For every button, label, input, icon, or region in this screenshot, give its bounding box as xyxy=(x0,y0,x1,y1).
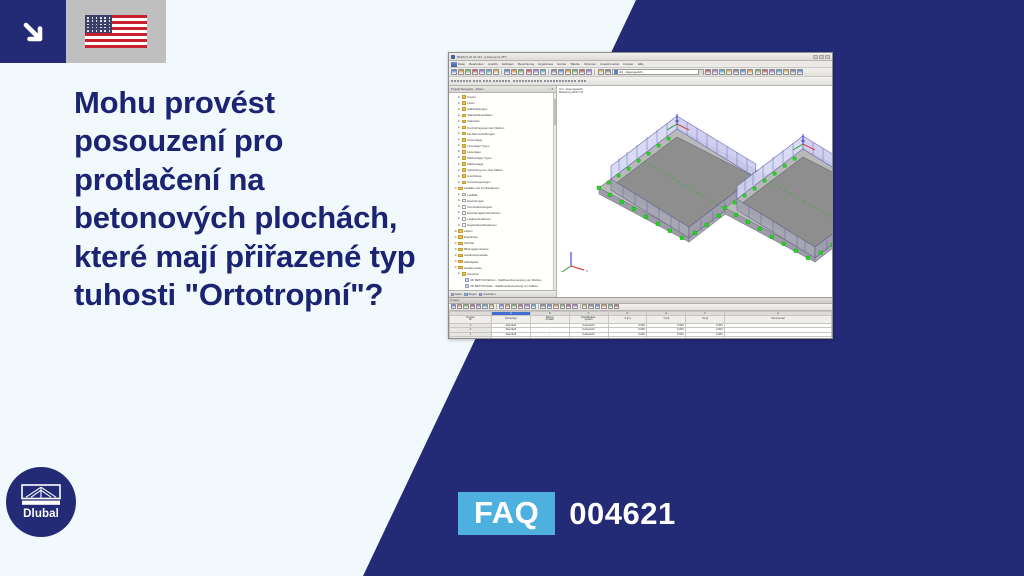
load-case-icon xyxy=(614,70,618,74)
navigator-tree-item-label: Stabsätze xyxy=(467,119,479,123)
folder-icon xyxy=(462,95,467,99)
toolbar-button-right-12[interactable] xyxy=(790,69,796,75)
navigator-tree-item-label: Linienlager xyxy=(467,150,481,154)
expand-toggle-icon[interactable]: ⊞ xyxy=(457,211,460,214)
menu-item-fenster[interactable]: Fenster xyxy=(623,62,633,66)
toolbar-button-1[interactable] xyxy=(457,304,462,309)
module-icon xyxy=(465,284,470,288)
expand-toggle-icon[interactable]: ⊞ xyxy=(454,236,457,239)
toolbar-button-32[interactable] xyxy=(544,80,546,82)
toolbar-button-2[interactable] xyxy=(457,80,459,82)
navigator-title: Projekt-Navigator - Daten xyxy=(451,87,484,91)
document-icon xyxy=(462,217,467,221)
navigator-tab-label: Ansichten xyxy=(483,292,495,296)
folder-icon xyxy=(462,120,467,124)
table-header-cell: Z [m] xyxy=(686,316,725,324)
load-case-value: LF1 - Eigengewicht xyxy=(619,70,643,74)
expand-toggle-icon[interactable]: ⊞ xyxy=(454,230,457,233)
folder-icon xyxy=(458,235,463,239)
menu-item-bearbeiten[interactable]: Bearbeiten xyxy=(469,62,484,66)
page-title: Mohu provést posouzení pro protlačení na… xyxy=(74,84,424,315)
expand-toggle-icon[interactable]: ⊞ xyxy=(457,181,460,184)
toolbar-separator xyxy=(548,69,549,75)
svg-text:X: X xyxy=(586,269,588,273)
navigator-tab-label: Zeigen xyxy=(468,292,477,296)
table-panel[interactable]: Knoten ABCDEFGKnotenNr.KnotentypBezugKno… xyxy=(449,297,832,339)
document-icon xyxy=(462,199,467,203)
coordinate-axes-icon: X xyxy=(562,252,588,273)
expand-toggle-icon[interactable]: ⊞ xyxy=(454,242,457,245)
toolbar-button-0[interactable] xyxy=(451,304,456,309)
toolbar-button-26[interactable] xyxy=(608,304,613,309)
faq-block: FAQ 004621 xyxy=(458,492,676,535)
document-icon xyxy=(462,211,467,215)
navigator-tree-item-label: Einwirkungskombinationen xyxy=(467,211,500,215)
navigator-tree-item-label: Lastfälle und Kombinationen xyxy=(464,186,499,190)
table-cell-z[interactable]: 0.000 xyxy=(686,337,725,339)
expand-toggle-icon[interactable]: ⊞ xyxy=(457,175,460,178)
folder-icon xyxy=(462,272,467,276)
toolbar-button-27[interactable] xyxy=(614,304,619,309)
navigator-tree-item-label: Flächenlager xyxy=(467,162,483,166)
table-header-cell: Knotentyp xyxy=(492,316,531,324)
menu-item-optionen[interactable]: Optionen xyxy=(584,62,596,66)
menu-item-tabelle[interactable]: Tabelle xyxy=(570,62,580,66)
folder-icon xyxy=(462,132,467,136)
toolbar-button-13[interactable] xyxy=(531,304,536,309)
toolbar-button-25[interactable] xyxy=(601,304,606,309)
expand-toggle-icon[interactable]: ⊞ xyxy=(454,248,457,251)
table-header-comment: Kommentar xyxy=(725,316,832,324)
expand-toggle-icon[interactable]: ⊞ xyxy=(457,163,460,166)
toolbar-button-8[interactable] xyxy=(504,69,510,75)
navigator-tabs[interactable]: DatenZeigenAnsichten xyxy=(449,290,556,297)
rfem-application-window[interactable]: RFEM 5.22.02.x64 - [Unbenannt.rf5*] Date… xyxy=(448,52,833,339)
toolbar-button-17[interactable] xyxy=(499,80,501,82)
expand-toggle-icon[interactable]: ⊞ xyxy=(457,169,460,172)
navigator-tree-item-label: Bildungsgrenzwerte xyxy=(464,247,489,251)
menu-item-zusatzmodule[interactable]: Zusatzmodule xyxy=(600,62,619,66)
navigator-tree-item-label: Durchdringungen der Flächen xyxy=(467,126,504,130)
folder-icon xyxy=(458,260,463,264)
folder-icon xyxy=(462,150,467,154)
menu-item-datei[interactable]: Datei xyxy=(458,62,465,66)
toolbar-button-13[interactable] xyxy=(489,80,491,82)
toolbar-button-right-7[interactable] xyxy=(755,69,761,75)
toolbar-button-right-3[interactable] xyxy=(726,69,732,75)
expand-toggle-icon[interactable]: ⊞ xyxy=(457,138,460,141)
data-tab-icon xyxy=(451,293,454,296)
toolbar-button-23[interactable] xyxy=(516,80,518,82)
folder-icon xyxy=(462,126,467,130)
expand-toggle-icon[interactable]: ⊞ xyxy=(457,205,460,208)
model-viewport[interactable]: LF1 - Eigengewicht Belastung [kN/m^2] xyxy=(557,86,832,297)
rfem-app-icon xyxy=(451,55,455,59)
toolbar-button-2[interactable] xyxy=(463,304,468,309)
toolbar-button-12[interactable] xyxy=(533,69,539,75)
toolbar-button-3[interactable] xyxy=(472,69,478,75)
menu-item-hilfe[interactable]: Hilfe xyxy=(638,62,644,66)
toolbar-button-22[interactable] xyxy=(513,80,515,82)
toolbar-button-8[interactable] xyxy=(473,80,475,82)
toolbar-button-4[interactable] xyxy=(479,69,485,75)
table-cell-y[interactable]: 6.000 xyxy=(647,337,686,339)
menu-item-ergebnisse[interactable]: Ergebnisse xyxy=(538,62,553,66)
toolbar-separator xyxy=(496,304,497,309)
expand-toggle-icon[interactable]: ⊞ xyxy=(457,156,460,159)
table-header-cell: BezugKnoten xyxy=(530,316,569,324)
folder-icon xyxy=(458,242,463,246)
toolbar-button-right-10[interactable] xyxy=(776,69,782,75)
toolbar-button-1[interactable] xyxy=(458,69,464,75)
toolbar-button-9[interactable] xyxy=(505,304,510,309)
navigator-header: Projekt-Navigator - Daten ▫ ✕ xyxy=(449,86,556,93)
expand-toggle-icon[interactable]: ⊞ xyxy=(457,144,460,147)
toolbar-button-16[interactable] xyxy=(496,80,498,82)
navigator-tab-zeigen[interactable]: Zeigen xyxy=(464,292,477,296)
flag-badge xyxy=(66,0,166,63)
navigator-tree-item-label: Verbindung von zwei Stäben xyxy=(467,168,502,172)
expand-toggle-icon[interactable]: ⊞ xyxy=(457,224,460,227)
toolbar-button-17[interactable] xyxy=(553,304,558,309)
toolbar-button-33[interactable] xyxy=(547,80,549,82)
folder-icon xyxy=(462,107,467,111)
minimize-button[interactable] xyxy=(813,55,818,59)
navigator-tree-item-label: Favoriten xyxy=(467,272,479,276)
toolbar-button-12[interactable] xyxy=(486,80,488,82)
document-icon xyxy=(462,193,467,197)
navigator-close-icon[interactable]: ▫ ✕ xyxy=(548,87,554,91)
toolbar-button-30[interactable] xyxy=(537,80,539,82)
toolbar-button-4[interactable] xyxy=(463,80,465,82)
toolbar-button-right-9[interactable] xyxy=(769,69,775,75)
expand-toggle-icon[interactable]: ⊞ xyxy=(457,272,460,275)
close-button[interactable] xyxy=(825,55,830,59)
toolbar-button-24[interactable] xyxy=(519,80,521,82)
toolbar-button-11[interactable] xyxy=(518,304,523,309)
table-cell-x[interactable]: 0.000 xyxy=(608,337,647,339)
table-toolbar[interactable] xyxy=(449,304,832,312)
expand-toggle-icon[interactable]: ⊞ xyxy=(457,108,460,111)
toolbar-button-15[interactable] xyxy=(493,80,495,82)
folder-icon xyxy=(462,168,467,172)
toolbar-button-5[interactable] xyxy=(486,69,492,75)
toolbar-button-24[interactable] xyxy=(595,304,600,309)
navigator-tree-item-label: Zusatzmodule xyxy=(464,266,482,270)
navigator-tree-item-label: Lastfälle xyxy=(467,193,477,197)
navigator-tree-item-label: Linien xyxy=(467,101,474,105)
document-icon xyxy=(462,223,467,227)
navigator-tree-item-label: Stablolastungen xyxy=(467,107,487,111)
arrow-down-right-icon xyxy=(19,18,47,46)
toolbar-button-4[interactable] xyxy=(476,304,481,309)
toolbar-button-23[interactable] xyxy=(588,304,593,309)
table-cell-coord-system[interactable]: Kartesisch xyxy=(569,337,608,339)
expand-toggle-icon[interactable]: ⊞ xyxy=(457,102,460,105)
folder-icon xyxy=(462,138,467,142)
toolbar-button-12[interactable] xyxy=(524,304,529,309)
toolbar-button-16[interactable] xyxy=(547,304,552,309)
folder-icon xyxy=(462,144,467,148)
toolbar-button-45[interactable] xyxy=(584,80,586,82)
toolbar-button-41[interactable] xyxy=(571,80,573,82)
expand-toggle-icon[interactable]: ⊞ xyxy=(454,254,457,257)
expand-toggle-icon[interactable]: ⊞ xyxy=(457,126,460,129)
expand-toggle-icon[interactable]: ⊞ xyxy=(454,266,457,269)
toolbar-button-18[interactable] xyxy=(572,69,578,75)
table-cell-node-type[interactable]: Standard xyxy=(492,337,531,339)
load-case-combo[interactable]: LF1 - Eigengewicht xyxy=(612,69,704,75)
navigator-tree-item-label: Knotenkopplungen xyxy=(467,180,490,184)
expand-toggle-icon[interactable]: ⊞ xyxy=(457,193,460,196)
navigator-scrollbar[interactable] xyxy=(553,93,557,290)
toolbar-button-39[interactable] xyxy=(565,80,567,82)
toolbar-button-right-1[interactable] xyxy=(712,69,718,75)
toolbar-button-19[interactable] xyxy=(505,80,507,82)
svg-text:5/0: 5/0 xyxy=(801,139,806,143)
expand-toggle-icon[interactable]: ⊞ xyxy=(457,96,460,99)
toolbar-separator xyxy=(538,304,539,309)
navigator-tree-item-label: Ausdruckprotokolle xyxy=(464,253,488,257)
folder-icon xyxy=(458,254,463,258)
toolbar-separator xyxy=(501,69,502,75)
navigator-tree-item-label: Anschlüsse xyxy=(467,174,481,178)
toolbar-button-34[interactable] xyxy=(550,80,552,82)
views-tab-icon xyxy=(479,293,482,296)
toolbar-button-25[interactable] xyxy=(522,80,524,82)
menu-item-einfuegen[interactable]: Einfügen xyxy=(502,62,514,66)
menu-item-extras[interactable]: Extras xyxy=(558,62,567,66)
toolbar-button-10[interactable] xyxy=(511,304,516,309)
node-table[interactable]: ABCDEFGKnotenNr.KnotentypBezugKnotenKoor… xyxy=(449,311,832,339)
navigator-tree-item-label: Schnitte xyxy=(464,241,474,245)
toolbar-button-9[interactable] xyxy=(476,80,478,82)
toolbar-button-5[interactable] xyxy=(482,304,487,309)
toolbar-button-8[interactable] xyxy=(499,304,504,309)
folder-icon xyxy=(462,114,467,118)
workspace: Projekt-Navigator - Daten ▫ ✕ ⊞Knoten⊞Li… xyxy=(449,86,832,297)
toolbar-button-19[interactable] xyxy=(579,69,585,75)
maximize-button[interactable] xyxy=(819,55,824,59)
toolbar-button-right-5[interactable] xyxy=(740,69,746,75)
toolbar-button-3[interactable] xyxy=(470,304,475,309)
toolbar-button-44[interactable] xyxy=(581,80,583,82)
toolbar-button-6[interactable] xyxy=(469,80,471,82)
toolbar-button-2[interactable] xyxy=(465,69,471,75)
toolbar-button-28[interactable] xyxy=(531,80,533,82)
toolbar-button-5[interactable] xyxy=(466,80,468,82)
toolbar-button-10[interactable] xyxy=(518,69,524,75)
toolbar-button-10[interactable] xyxy=(479,80,481,82)
navigator-tree-item-label: Hilfsobjekte xyxy=(464,260,478,264)
toolbar-button-1[interactable] xyxy=(454,80,456,82)
navigator-tree-item-label: Lastkombinationen xyxy=(467,217,490,221)
expand-toggle-icon[interactable]: ⊞ xyxy=(457,114,460,117)
secondary-toolbar[interactable] xyxy=(449,77,832,86)
toolbar-button-6[interactable] xyxy=(489,304,494,309)
toolbar-button-36[interactable] xyxy=(556,80,558,82)
toolbar-button-right-13[interactable] xyxy=(797,69,803,75)
toolbar-button-0[interactable] xyxy=(451,69,457,75)
navigator-tree-item-label: RF-BETON Stäbe - Stahlbetonbemessung von… xyxy=(470,284,538,288)
toolbar-button-15[interactable] xyxy=(540,304,545,309)
toolbar-button-23[interactable] xyxy=(605,69,611,75)
toolbar-button-37[interactable] xyxy=(559,80,561,82)
navigator-tree-item-label: Linienlager Typen xyxy=(467,144,489,148)
expand-toggle-icon[interactable]: ⊞ xyxy=(454,260,457,263)
chevron-down-icon[interactable] xyxy=(698,70,703,75)
toolbar-button-right-0[interactable] xyxy=(705,69,711,75)
expand-toggle-icon[interactable]: ⊞ xyxy=(454,187,457,190)
navigator-tree-item-label: Lasten xyxy=(464,229,472,233)
expand-toggle-icon[interactable]: ⊞ xyxy=(457,132,460,135)
folder-icon xyxy=(462,181,467,185)
toolbar-button-11[interactable] xyxy=(526,69,532,75)
dlubal-logo: Dlubal xyxy=(6,467,76,537)
table-header-cell: X [m] xyxy=(608,316,647,324)
toolbar-separator xyxy=(580,304,581,309)
toolbar-button-26[interactable] xyxy=(525,80,527,82)
toolbar-button-right-11[interactable] xyxy=(783,69,789,75)
expand-toggle-icon[interactable]: ⊞ xyxy=(457,120,460,123)
menu-item-berechnung[interactable]: Berechnung xyxy=(518,62,534,66)
toolbar-button-16[interactable] xyxy=(558,69,564,75)
toolbar-button-29[interactable] xyxy=(534,80,536,82)
folder-icon xyxy=(458,229,463,233)
menu-item-ansicht[interactable]: Ansicht xyxy=(488,62,498,66)
folder-icon xyxy=(458,248,463,252)
folder-icon xyxy=(462,174,467,178)
window-title: RFEM 5.22.02.x64 - [Unbenannt.rf5*] xyxy=(457,55,507,59)
toolbar-button-right-6[interactable] xyxy=(747,69,753,75)
toolbar-button-42[interactable] xyxy=(574,80,576,82)
toolbar-button-right-4[interactable] xyxy=(733,69,739,75)
toolbar-button-18[interactable] xyxy=(502,80,504,82)
toolbar-button-17[interactable] xyxy=(565,69,571,75)
main-toolbar[interactable]: LF1 - Eigengewicht xyxy=(449,68,832,77)
navigator-tab-label: Daten xyxy=(455,292,462,296)
toolbar-button-6[interactable] xyxy=(493,69,499,75)
toolbar-button-13[interactable] xyxy=(540,69,546,75)
project-navigator[interactable]: Projekt-Navigator - Daten ▫ ✕ ⊞Knoten⊞Li… xyxy=(449,86,557,297)
toolbar-button-15[interactable] xyxy=(551,69,557,75)
toolbar-button-31[interactable] xyxy=(540,80,542,82)
toolbar-button-right-8[interactable] xyxy=(762,69,768,75)
toolbar-button-9[interactable] xyxy=(511,69,517,75)
toolbar-button-3[interactable] xyxy=(460,80,462,82)
truss-frame-icon xyxy=(21,484,61,506)
module-icon xyxy=(465,278,470,282)
table-header-cell: Koordinaten-system xyxy=(569,316,608,324)
dlubal-wordmark: Dlubal xyxy=(23,508,59,520)
toolbar-button-22[interactable] xyxy=(598,69,604,75)
navigator-tree-item-label: FE-Netzverdichtungen xyxy=(467,132,495,136)
menu-bar[interactable]: Datei Bearbeiten Ansicht Einfügen Berech… xyxy=(449,61,832,68)
toolbar-button-40[interactable] xyxy=(568,80,570,82)
table-cell-comment[interactable] xyxy=(725,337,832,339)
expand-toggle-icon[interactable]: ⊞ xyxy=(457,150,460,153)
toolbar-button-11[interactable] xyxy=(483,80,485,82)
window-controls[interactable] xyxy=(813,55,830,59)
navigator-tree-item-label: Einwirkungen xyxy=(467,199,484,203)
folder-icon xyxy=(462,162,467,166)
navigator-tree-item-label: RF-BETON Flächen - Stahlbetonbemessung v… xyxy=(470,278,541,282)
toolbar-button-20[interactable] xyxy=(586,69,592,75)
folder-icon xyxy=(458,187,463,191)
toolbar-button-19[interactable] xyxy=(566,304,571,309)
faq-number: 004621 xyxy=(569,498,675,529)
toolbar-button-20[interactable] xyxy=(508,80,510,82)
navigator-tree[interactable]: ⊞Knoten⊞Linien⊞Stablolastungen⊞Stabnicht… xyxy=(449,93,556,290)
navigator-tree-item-label: Ergebnisse xyxy=(464,235,478,239)
toolbar-button-right-2[interactable] xyxy=(719,69,725,75)
table-cell-node-nr[interactable]: 4 xyxy=(450,337,492,339)
us-flag-icon xyxy=(85,15,147,48)
table-header-cell: KnotenNr. xyxy=(450,316,492,324)
toolbar-button-20[interactable] xyxy=(572,304,577,309)
faq-tag: FAQ xyxy=(458,492,555,535)
expand-toggle-icon[interactable]: ⊞ xyxy=(457,217,460,220)
navigator-tree-item[interactable]: RF-BETON Stützen - Stahlbetonbemessung v… xyxy=(449,289,556,290)
navigator-tab-daten[interactable]: Daten xyxy=(451,292,463,296)
navigator-tree-item-label: Knoten xyxy=(467,95,476,99)
table-cell-reference-node[interactable]: - xyxy=(530,337,569,339)
table-row[interactable]: 4Standard-Kartesisch0.0006.0000.000 xyxy=(450,337,832,339)
table-header-cell: Y [m] xyxy=(647,316,686,324)
toolbar-button-27[interactable] xyxy=(528,80,530,82)
folder-icon xyxy=(462,101,467,105)
folder-icon xyxy=(462,156,467,160)
toolbar-button-18[interactable] xyxy=(560,304,565,309)
toolbar-button-22[interactable] xyxy=(582,304,587,309)
folder-icon xyxy=(458,266,463,270)
display-tab-icon xyxy=(464,293,467,296)
toolbar-button-38[interactable] xyxy=(562,80,564,82)
document-icon xyxy=(462,205,467,209)
navigator-tree-item-label: Flächenlager Typen xyxy=(467,156,492,160)
toolbar-separator xyxy=(594,69,595,75)
slide-canvas: Mohu provést posouzení pro protlačení na… xyxy=(0,0,1024,576)
navigator-tree-item-label: Ergebniskombinationen xyxy=(467,223,496,227)
toolbar-button-35[interactable] xyxy=(553,80,555,82)
window-titlebar: RFEM 5.22.02.x64 - [Unbenannt.rf5*] xyxy=(449,53,832,61)
navigator-tree-item-label: Knotenlager xyxy=(467,138,482,142)
navigator-tree-item-label: Kombinationsregeln xyxy=(467,205,492,209)
navigator-tree-item-label: Stabnichtlinearitäten xyxy=(467,113,492,117)
slab-model-graphic: 5/0 5/0 1 2 X xyxy=(557,86,832,297)
svg-text:5/0: 5/0 xyxy=(675,119,680,123)
toolbar-button-0[interactable] xyxy=(451,80,453,82)
toolbar-button-43[interactable] xyxy=(578,80,580,82)
arrow-badge xyxy=(0,0,66,63)
expand-toggle-icon[interactable]: ⊞ xyxy=(457,199,460,202)
document-icon xyxy=(451,62,457,67)
navigator-tab-ansichten[interactable]: Ansichten xyxy=(479,292,495,296)
